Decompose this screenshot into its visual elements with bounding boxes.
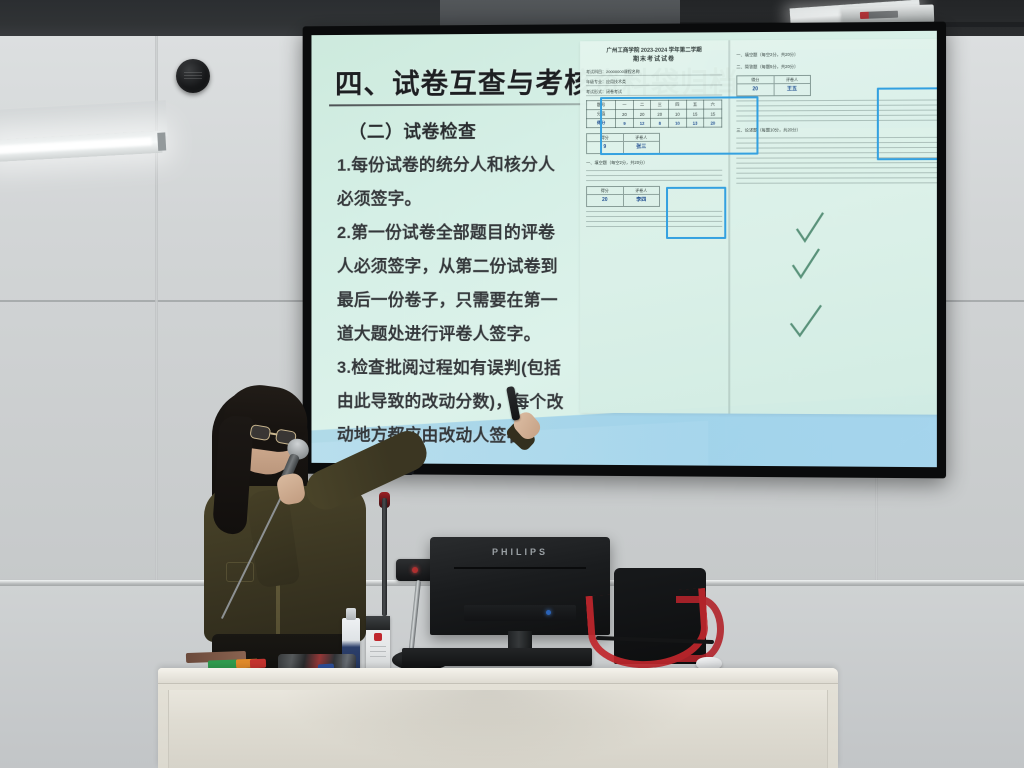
computer-monitor: PHILIPS [430,537,610,657]
monitor-ridge [454,567,586,569]
exam-rule [736,147,937,149]
light-end-cap [157,132,166,150]
exam-rule [736,120,937,122]
exam-header-line1: 广州工商学院 2023-2024 学年第二学期 [586,46,722,56]
score-table-cell: 20 [704,118,722,127]
exam-rule [736,172,937,174]
transmitter-label-line [370,656,386,657]
spray-nozzle [346,608,356,620]
exam-rule [736,110,937,112]
exam-rule [586,170,722,171]
red-cable-loop-icon [676,596,724,662]
exam-section-heading: 一、填空题（每空2分，共20分） [586,159,722,166]
signature-box-grader-value: 李四 [623,195,659,206]
antenna-pole [382,498,387,616]
monitor-vent [464,605,576,621]
signature-box-score: 得分 20 [587,187,623,206]
wall-speaker-icon [176,59,210,93]
score-table-cell: 20 [651,109,669,118]
exam-meta-line: 考试科目：20000000课程名称 [586,67,722,76]
podium-top-surface [158,668,838,684]
signature-box-score-value: 20 [737,84,773,95]
exam-rule [586,175,722,176]
glasses-lens-left [249,424,271,441]
signature-box: 得分 9 评卷人 张三 [586,133,660,154]
exam-section-heading: 一、填空题（每空2分，共20分） [736,50,937,58]
exam-rule [736,162,937,164]
exam-rule [586,180,722,181]
exam-meta: 考试科目：20000000课程名称 年级专业：应用技术类 考试形式：闭卷考试 [586,67,722,96]
score-table-cell: 9 [616,118,634,127]
slide-body-line: 3.检查批阅过程如有误判(包括 [337,354,584,383]
score-table-cell: 13 [686,118,704,127]
slide-body-line: 人必须签字，从第二份试卷到 [337,253,584,281]
glasses-bridge [270,432,277,435]
podium-desk [158,668,838,768]
exam-rule [736,167,937,169]
exam-section-heading: 三、论述题（每题10分，共20分） [736,126,937,134]
score-table-cell: 8 [651,118,669,127]
slide-body-line: 1.每份试卷的统分人和核分人 [337,151,584,180]
signature-box-grader-value: 王五 [774,84,810,95]
slide-body-line: 2.第一份试卷全部题目的评卷 [337,219,584,247]
red-marker-icon [250,659,266,669]
exam-paper-image: 广州工商学院 2023-2024 学年第二学期 期末考试试卷 考试科目：2000… [580,39,937,415]
signature-box-grader-label: 评卷人 [623,134,659,142]
exam-paper-left-page: 广州工商学院 2023-2024 学年第二学期 期末考试试卷 考试科目：2000… [580,40,728,413]
exam-meta-line: 考试形式：闭卷考试 [586,87,722,96]
exam-rule [736,105,937,107]
signature-box-score: 得分 20 [737,76,774,95]
slide-subtitle: （二）试卷检查 [349,118,477,144]
exam-rule [736,157,937,159]
roller-brand-logo-icon [860,11,898,19]
score-table-cell: 20 [616,109,634,118]
score-table-cell: 10 [669,109,687,118]
table-row: 得分 9 12 8 10 13 20 [587,118,722,128]
exam-rule [736,142,937,144]
exam-score-table: 题号 一 二 三 四 五 六 分值 20 20 [586,100,722,129]
exam-header: 广州工商学院 2023-2024 学年第二学期 期末考试试卷 [586,46,722,65]
keyboard-icon[interactable] [402,648,592,666]
grader-checkmark-icon [789,303,823,339]
score-table-header-cell: 五 [686,100,704,109]
exam-rule [586,211,722,212]
exam-rule [586,216,722,217]
transmitter-label-line [370,651,386,652]
grader-checkmark-icon [795,211,825,245]
transmitter-label-line [370,646,386,647]
exam-rule [736,177,937,178]
score-table-row-label: 得分 [587,119,616,128]
signature-box-grader-label: 评卷人 [774,76,810,84]
score-table-header-cell: 二 [633,100,651,109]
exam-paper-right-page: 一、填空题（每空2分，共20分） 二、简答题（每题5分，共20分） 得分 20 … [730,39,937,415]
score-table-header-cell: 四 [669,100,687,109]
exam-rule [736,99,937,101]
grader-checkmark-icon [791,247,821,281]
signature-box: 得分 20 评卷人 王五 [736,75,811,96]
exam-rule [586,226,722,227]
signature-box-grader-label: 评卷人 [623,187,659,195]
score-table-header-cell: 三 [651,100,669,109]
score-table-header-cell: 六 [704,100,722,109]
exam-rule [736,137,937,139]
exam-rule [586,221,722,222]
signature-box-score-value: 20 [587,195,622,206]
classroom-photo: 四、试卷互查与考核资料袋归档 （二）试卷检查 1.每份试卷的统分人和核分人 必须… [0,0,1024,768]
presenter-arm-raised [300,426,433,516]
presenter [196,382,426,682]
signature-box: 得分 20 评卷人 李四 [586,186,660,207]
monitor-brand-label: PHILIPS [430,547,610,557]
signature-box-score-label: 得分 [587,134,622,142]
monitor-back-panel: PHILIPS [430,537,610,635]
microphone-status-led [412,567,418,573]
signature-box-score: 得分 9 [587,134,623,153]
score-table-header-cell: 一 [616,100,634,109]
score-table-cell: 12 [633,118,651,127]
wireless-transmitter-box [366,616,390,674]
signature-box-grader: 评卷人 李四 [623,187,659,206]
slide-body-line: 道大题处进行评卷人签字。 [337,320,584,349]
score-table-cell: 15 [686,109,704,118]
signature-box-grader-value: 张三 [623,142,659,153]
transmitter-cap [366,616,390,630]
signature-box-score-label: 得分 [737,76,773,84]
signature-box-score-value: 9 [587,142,622,153]
score-table-cell: 10 [669,118,687,127]
transmitter-logo-icon [374,633,382,641]
slide-body-line: 必须签字。 [337,185,584,213]
exam-rule [736,182,937,183]
podium-shadow [278,690,698,768]
score-table-cell: 20 [633,109,651,118]
light-glow [0,137,152,154]
exam-meta-line: 年级专业：应用技术类 [586,77,722,86]
signature-box-grader: 评卷人 王五 [774,76,810,95]
score-table-row-label: 分值 [587,110,616,119]
signature-box-score-label: 得分 [587,187,622,195]
score-table-cell: 15 [704,109,722,118]
signature-box-grader: 评卷人 张三 [623,134,659,153]
exam-section-heading: 二、简答题（每题5分，共20分） [736,62,937,70]
exam-header-line2: 期末考试试卷 [586,55,722,65]
exam-rule [736,152,937,154]
slide-body-line: 最后一份卷子，只需要在第一 [337,287,584,315]
exam-rule [736,115,937,117]
score-table-corner: 题号 [587,101,616,110]
